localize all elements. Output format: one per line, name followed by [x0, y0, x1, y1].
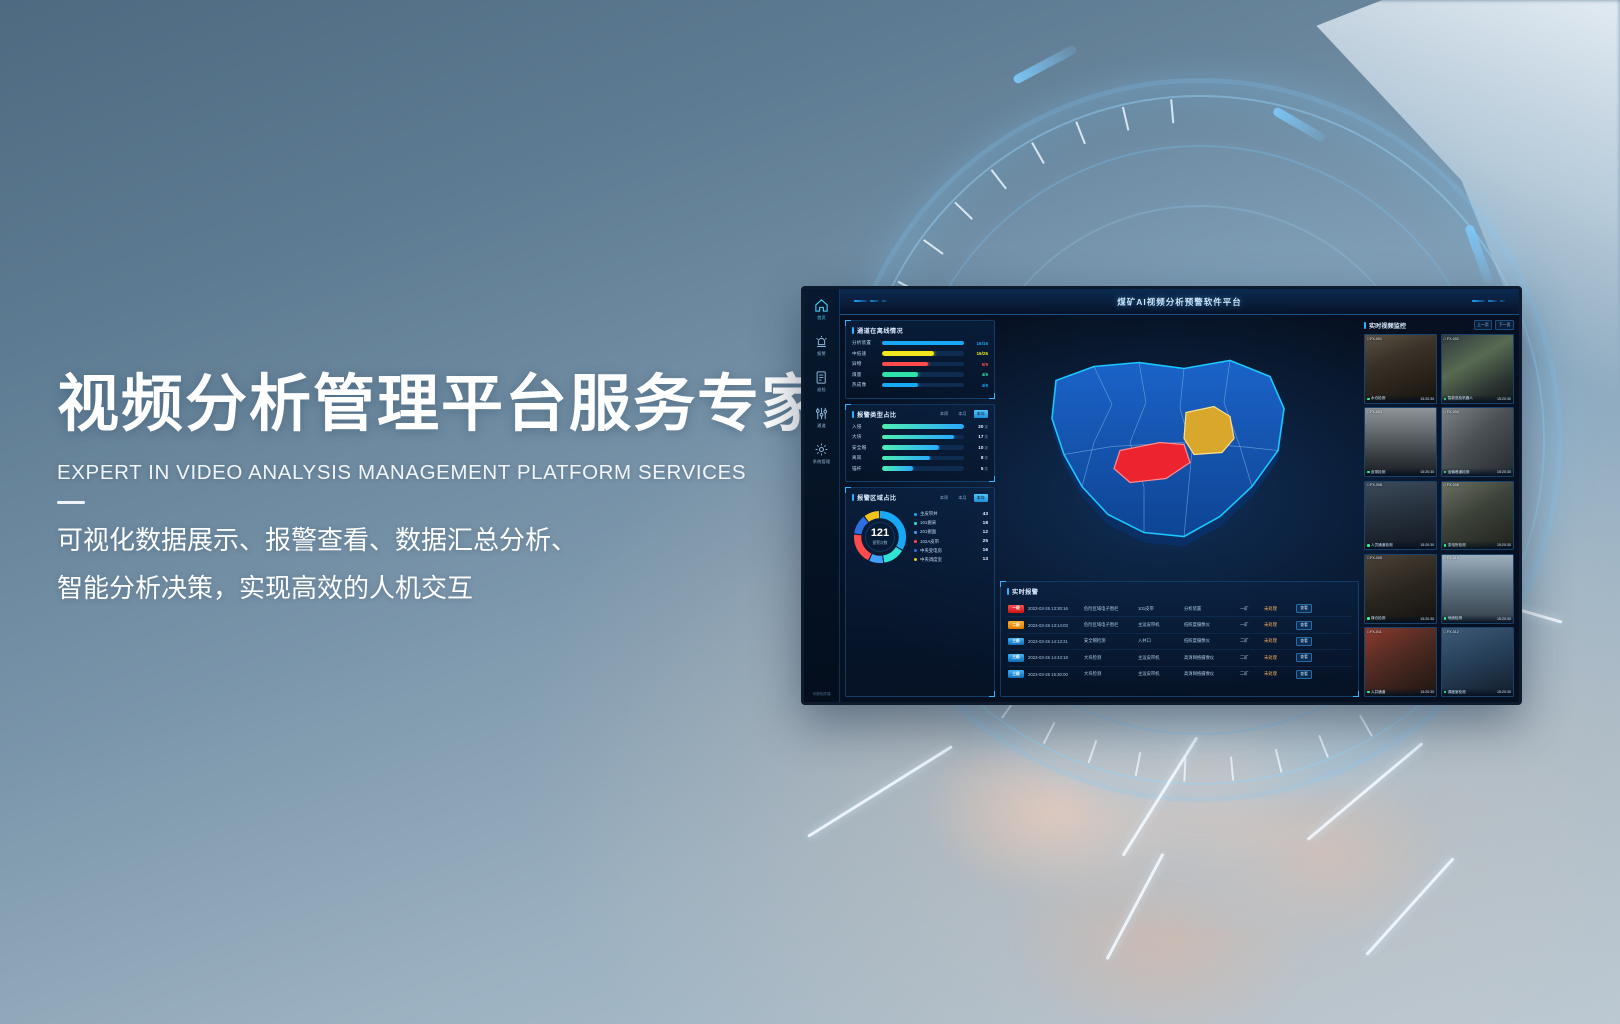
view-button[interactable]: 查看 [1296, 653, 1312, 662]
alarm-rows: 一级2023-03-26 13:30:16危险区域电子围栏101皮带分析装置一矿… [1007, 601, 1352, 682]
alarm-mine: 一矿 [1240, 606, 1260, 612]
legend-color-dot [914, 540, 917, 543]
donut-chart: 121 报警次数 [852, 509, 908, 565]
video-tile[interactable]: □ FX-006人员通道检测15:20:30 [1364, 481, 1437, 551]
video-caption: 入井通道15:20:30 [1365, 688, 1436, 696]
alarm-type-panel: 报警类型占比 本周本月本年 入侵20次大块17次安全帽10次离岗8次锚杆5次 [845, 404, 995, 483]
dash-segment [1012, 44, 1078, 85]
sidebar-item-inspection[interactable]: 巡检 [804, 370, 839, 393]
inspection-icon [814, 370, 829, 385]
channel-row: 中低速16/25 [852, 351, 988, 357]
legend-color-dot [914, 558, 917, 561]
video-name: 变电所检测 [1448, 543, 1466, 548]
map-highlight-gold [1184, 407, 1234, 455]
alarm-status: 未处理 [1264, 606, 1290, 612]
progress-track [882, 445, 964, 449]
video-channel-id: □ FX-001 [1367, 337, 1382, 341]
video-panel-header: 实时视频监控 上一页 下一页 [1364, 320, 1514, 330]
panel-title: 实时视频监控 [1364, 321, 1406, 330]
dashboard-body: 通道在离线情况 分析装置16/16中低速16/25异物5/9煤量4/9热成像4/… [840, 315, 1519, 702]
table-row[interactable]: 三级2023-03-26 14:43:18大块检测主运皮带机高清网络摄像仪二矿未… [1007, 650, 1352, 666]
legend-value: 13 [983, 557, 988, 562]
progress-fill [882, 435, 954, 439]
home-icon [814, 298, 829, 313]
alarm-type-row: 安全帽10次 [852, 445, 988, 451]
legend-color-dot [914, 549, 917, 552]
dashboard-screen: 首页 报警 巡检 通道 系统管理 可视化终端 煤矿AI视频分析预警软件平台 [804, 289, 1519, 702]
video-tile[interactable]: □ FX-009煤仓检测15:20:30 [1364, 554, 1437, 624]
alarm-type-value: 8次 [968, 455, 988, 461]
alarm-type-row: 离岗8次 [852, 455, 988, 461]
ring-tick [1230, 756, 1234, 780]
channel-value: 4/9 [968, 383, 988, 388]
video-tile[interactable]: □ FX-011入井通道15:20:30 [1364, 627, 1437, 697]
alarm-mine: 二矿 [1240, 655, 1260, 661]
online-indicator-icon [1444, 398, 1447, 401]
video-channel-id: □ FX-012 [1444, 630, 1459, 634]
alarm-time: 2023-03-26 15:30:00 [1028, 672, 1080, 677]
channel-row: 异物5/9 [852, 361, 988, 367]
prev-page-button[interactable]: 上一页 [1474, 320, 1493, 330]
alarm-type-row: 入侵20次 [852, 424, 988, 430]
channel-name: 热成像 [852, 382, 878, 388]
light-streak [1307, 742, 1424, 841]
ring-tick [1135, 752, 1142, 776]
alarm-mine: 一矿 [1240, 622, 1260, 628]
legend-value: 16 [983, 548, 988, 553]
progress-fill [882, 351, 934, 355]
ring-tick [954, 202, 973, 220]
light-streak [1122, 736, 1199, 856]
light-streak [1365, 857, 1454, 956]
ring-tick [1275, 749, 1283, 773]
online-indicator-icon [1367, 398, 1370, 401]
video-pager[interactable]: 上一页 下一页 [1474, 320, 1514, 330]
channel-value: 16/16 [968, 341, 988, 346]
video-name: 水仓检测 [1371, 396, 1385, 401]
channel-value: 4/9 [968, 372, 988, 377]
progress-track [882, 466, 964, 470]
sidebar-item-label: 报警 [817, 351, 826, 357]
dashboard-header: 煤矿AI视频分析预警软件平台 [840, 289, 1519, 315]
channel-value: 16/25 [968, 351, 988, 356]
period-tab-本年[interactable]: 本年 [974, 410, 988, 418]
map-svg [1030, 341, 1330, 556]
online-indicator-icon [1367, 544, 1370, 547]
alarm-location: 主运皮带机 [1138, 622, 1180, 628]
center-column: 实时报警 一级2023-03-26 13:30:16危险区域电子围栏101皮带分… [1000, 320, 1359, 697]
video-tile[interactable]: □ FX-004运输巷道检测15:20:30 [1441, 407, 1514, 477]
channel-name: 中低速 [852, 351, 878, 357]
video-time: 15:20:30 [1497, 617, 1511, 621]
legend-label: 主皮带井 [920, 511, 980, 517]
alarm-status: 未处理 [1264, 622, 1290, 628]
video-feed-image [1365, 408, 1436, 476]
sidebar-footer-label: 可视化终端 [804, 692, 839, 697]
legend-value: 25 [983, 539, 988, 544]
video-caption: 地面检测15:20:30 [1442, 615, 1513, 623]
legend-color-dot [914, 513, 917, 516]
alarm-type-value: 10次 [968, 445, 988, 451]
panel-header: 报警区域占比 本周本月本年 [852, 493, 988, 502]
ring-tick [1183, 758, 1186, 782]
header-deco-left [854, 300, 887, 302]
alarm-device: 低照度摄像仪 [1184, 638, 1236, 644]
alarm-type: 安全帽检测 [1084, 638, 1134, 644]
sidebar-item-label: 巡检 [817, 387, 826, 393]
legend-value: 12 [983, 530, 988, 535]
video-time: 15:20:30 [1497, 470, 1511, 474]
page-title: 视频分析管理平台服务专家 [57, 372, 837, 439]
video-time: 15:20:30 [1420, 690, 1434, 694]
video-time: 15:20:30 [1420, 470, 1434, 474]
online-indicator-icon [1444, 617, 1447, 620]
alarm-device: 高清网络摄像仪 [1184, 655, 1236, 661]
alarm-type-value: 20次 [968, 424, 988, 430]
video-time: 15:20:30 [1497, 397, 1511, 401]
video-name: 调度室检测 [1448, 690, 1466, 695]
alarm-time: 2023-03-26 14:13:21 [1028, 639, 1080, 644]
donut-legend: 主皮带井43101掘采18201掘面12102A皮带25中央变电房16中央调度室… [914, 511, 988, 563]
video-channel-id: □ FX-006 [1367, 483, 1382, 487]
video-feed-image [1365, 482, 1436, 550]
video-time: 15:20:30 [1420, 617, 1434, 621]
video-feed-image [1442, 482, 1513, 550]
table-row[interactable]: 二级2023-03-26 13:14:03危险区域电子围栏主运皮带机低照度摄像仪… [1007, 617, 1352, 633]
view-button-cell[interactable]: 查看 [1294, 604, 1314, 613]
alarm-area-panel: 报警区域占比 本周本月本年 121 报警次数 主皮带井43101掘采18201掘… [845, 487, 995, 697]
ring-tick [1122, 107, 1129, 131]
header-deco-right [1472, 300, 1505, 302]
legend-item: 102A皮带25 [914, 539, 988, 545]
video-name: 入井通道 [1371, 690, 1385, 695]
hero-description-line2: 智能分析决策，实现高效的人机交互 [57, 564, 837, 612]
alarm-type: 危险区域电子围栏 [1084, 606, 1134, 612]
alarm-location: 主运皮带机 [1138, 655, 1180, 661]
progress-fill [882, 424, 964, 428]
dash-segment [1272, 106, 1327, 143]
video-grid: □ FX-001水仓检测15:20:30□ FX-002智能巡检机器人15:20… [1364, 334, 1514, 697]
alarm-type: 危险区域电子围栏 [1084, 622, 1134, 628]
video-channel-id: □ FX-004 [1444, 410, 1459, 414]
table-row[interactable]: 三级2023-03-26 15:30:00大块检测主运皮带机高清网络摄像仪二矿未… [1007, 667, 1352, 682]
alarm-icon [814, 334, 829, 349]
alarm-location: 主运皮带机 [1138, 671, 1180, 677]
panel-title: 通道在离线情况 [852, 326, 903, 335]
video-tile[interactable]: □ FX-002智能巡检机器人15:20:30 [1441, 334, 1514, 404]
donut-total: 121 [871, 528, 889, 539]
video-caption: 煤仓检测15:20:30 [1365, 615, 1436, 623]
alarm-type: 大块检测 [1084, 655, 1134, 661]
video-tile[interactable]: □ FX-010地面检测15:20:30 [1441, 554, 1514, 624]
video-tile[interactable]: □ FX-003皮带检测15:20:30 [1364, 407, 1437, 477]
channel-name: 煤量 [852, 372, 878, 378]
period-tab-本月[interactable]: 本月 [955, 494, 969, 502]
progress-fill [882, 362, 928, 366]
view-button[interactable]: 查看 [1296, 637, 1312, 646]
video-time: 15:20:30 [1497, 690, 1511, 694]
progress-track [882, 456, 964, 460]
video-name: 地面检测 [1448, 616, 1462, 621]
sidebar-item-alarm[interactable]: 报警 [804, 334, 839, 357]
alarm-type-row: 大块17次 [852, 434, 988, 440]
right-column: 实时视频监控 上一页 下一页 □ FX-001水仓检测15:20:30□ FX-… [1364, 320, 1514, 697]
alarm-time: 2023-03-26 13:14:03 [1028, 623, 1080, 628]
alarm-type: 大块检测 [1084, 671, 1134, 677]
video-feed-image [1442, 628, 1513, 696]
video-channel-id: □ FX-011 [1367, 630, 1382, 634]
panel-title: 报警类型占比 [852, 410, 897, 419]
video-channel-id: □ FX-010 [1444, 556, 1459, 560]
sidebar-item-channel[interactable]: 通道 [804, 406, 839, 429]
channel-row: 煤量4/9 [852, 372, 988, 378]
legend-value: 43 [983, 512, 988, 517]
video-status: 地面检测 [1444, 616, 1462, 621]
dash-segment [1464, 224, 1494, 285]
video-time: 15:20:30 [1420, 397, 1434, 401]
progress-fill [882, 383, 918, 387]
alarm-type-row: 锚杆5次 [852, 466, 988, 472]
progress-fill [882, 341, 964, 345]
video-name: 智能巡检机器人 [1448, 396, 1473, 401]
video-status: 运输巷道检测 [1444, 470, 1470, 475]
region-map[interactable] [1000, 320, 1359, 576]
hero-description-line1: 可视化数据展示、报警查看、数据汇总分析、 [57, 516, 837, 564]
period-tabs[interactable]: 本周本月本年 [937, 494, 988, 502]
video-name: 运输巷道检测 [1448, 470, 1470, 475]
gear-icon [814, 442, 829, 457]
ring-tick [991, 169, 1007, 189]
video-feed-image [1365, 628, 1436, 696]
channel-status-panel: 通道在离线情况 分析装置16/16中低速16/25异物5/9煤量4/9热成像4/… [845, 320, 995, 399]
alarm-type-rows: 入侵20次大块17次安全帽10次离岗8次锚杆5次 [852, 424, 988, 472]
progress-fill [882, 456, 930, 460]
view-button[interactable]: 查看 [1296, 670, 1312, 679]
video-caption: 皮带检测15:20:30 [1365, 468, 1436, 476]
alarm-time: 2023-03-26 13:30:16 [1028, 606, 1080, 611]
alarm-status: 未处理 [1264, 655, 1290, 661]
alarm-type-value: 17次 [968, 434, 988, 440]
table-row[interactable]: 一级2023-03-26 13:30:16危险区域电子围栏101皮带分析装置一矿… [1007, 601, 1352, 617]
progress-fill [882, 466, 913, 470]
ring-tick [1318, 735, 1329, 758]
period-tab-本月[interactable]: 本月 [955, 410, 969, 418]
channel-row: 分析装置16/16 [852, 340, 988, 346]
progress-track [882, 362, 964, 366]
online-indicator-icon [1444, 471, 1447, 474]
dashboard-monitor: 首页 报警 巡检 通道 系统管理 可视化终端 煤矿AI视频分析预警软件平台 [801, 286, 1522, 705]
panel-title: 实时报警 [1007, 587, 1038, 596]
online-indicator-icon [1367, 691, 1370, 694]
video-caption: 运输巷道检测15:20:30 [1442, 468, 1513, 476]
panel-header: 实时报警 [1007, 587, 1352, 596]
video-channel-id: □ FX-008 [1444, 483, 1459, 487]
period-tab-本年[interactable]: 本年 [974, 494, 988, 502]
alarm-time: 2023-03-26 14:43:18 [1028, 655, 1080, 660]
channel-name: 异物 [852, 361, 878, 367]
title-accent-bar [1364, 322, 1366, 329]
video-tile[interactable]: □ FX-001水仓检测15:20:30 [1364, 334, 1437, 404]
view-button[interactable]: 查看 [1296, 621, 1312, 630]
alarm-location: 101皮带 [1138, 606, 1180, 612]
alarm-mine: 二矿 [1240, 671, 1260, 677]
alarm-type-name: 安全帽 [852, 445, 878, 451]
alarm-location: 入井口 [1138, 638, 1180, 644]
legend-item: 201掘面12 [914, 529, 988, 535]
legend-item: 中央变电房16 [914, 548, 988, 554]
sidebar-item-home[interactable]: 首页 [804, 298, 839, 321]
light-streak [807, 745, 953, 838]
video-status: 入井通道 [1367, 690, 1385, 695]
hero-copy: 视频分析管理平台服务专家 EXPERT IN VIDEO ANALYSIS MA… [57, 372, 837, 612]
video-status: 变电所检测 [1444, 543, 1466, 548]
alarm-device: 分析装置 [1184, 606, 1236, 612]
view-button-cell[interactable]: 查看 [1294, 670, 1314, 679]
progress-track [882, 435, 964, 439]
next-page-button[interactable]: 下一页 [1495, 320, 1514, 330]
alarm-type-name: 入侵 [852, 424, 878, 430]
video-caption: 智能巡检机器人15:20:30 [1442, 395, 1513, 403]
ring-tick [1088, 740, 1098, 763]
light-streak [1106, 853, 1165, 960]
channel-value: 5/9 [968, 362, 988, 367]
ring-tick [1170, 99, 1174, 123]
progress-track [882, 372, 964, 376]
legend-value: 18 [983, 521, 988, 526]
video-tile[interactable]: □ FX-008变电所检测15:20:30 [1441, 481, 1514, 551]
video-caption: 人员通道检测15:20:30 [1365, 541, 1436, 549]
video-panel-title: 实时视频监控 [1369, 321, 1406, 330]
sidebar-item-label: 首页 [817, 315, 826, 321]
channel-row: 热成像4/9 [852, 382, 988, 388]
video-name: 煤仓检测 [1371, 616, 1385, 621]
status-badge: 三级 [1008, 670, 1024, 678]
channel-name: 分析装置 [852, 340, 878, 346]
hero-divider [57, 501, 85, 504]
view-button[interactable]: 查看 [1296, 604, 1312, 613]
dashboard-title: 煤矿AI视频分析预警软件平台 [1117, 296, 1242, 308]
period-tabs[interactable]: 本周本月本年 [937, 410, 988, 418]
video-channel-id: □ FX-002 [1444, 337, 1459, 341]
video-caption: 调度室检测15:20:30 [1442, 688, 1513, 696]
online-indicator-icon [1367, 617, 1370, 620]
status-badge: 三级 [1008, 654, 1024, 662]
legend-item: 主皮带井43 [914, 511, 988, 517]
alarm-type-name: 离岗 [852, 455, 878, 461]
period-tab-本周[interactable]: 本周 [937, 494, 951, 502]
status-badge: 三级 [1008, 638, 1024, 646]
left-column: 通道在离线情况 分析装置16/16中低速16/25异物5/9煤量4/9热成像4/… [845, 320, 995, 697]
alarm-type-value: 5次 [968, 466, 988, 472]
view-button-cell[interactable]: 查看 [1294, 637, 1314, 646]
video-time: 15:20:30 [1497, 543, 1511, 547]
legend-label: 101掘采 [920, 520, 980, 526]
video-caption: 水仓检测15:20:30 [1365, 395, 1436, 403]
sidebar-nav: 首页 报警 巡检 通道 系统管理 可视化终端 [804, 289, 840, 702]
legend-item: 101掘采18 [914, 520, 988, 526]
donut-center: 121 报警次数 [865, 522, 895, 552]
progress-track [882, 383, 964, 387]
sidebar-item-system[interactable]: 系统管理 [804, 442, 839, 465]
alarm-device: 高清网络摄像仪 [1184, 671, 1236, 677]
legend-label: 中央调度室 [920, 557, 980, 563]
online-indicator-icon [1444, 544, 1447, 547]
table-row[interactable]: 三级2023-03-26 14:13:21安全帽检测入井口低照度摄像仪二矿未处理… [1007, 634, 1352, 650]
sidebar-item-label: 系统管理 [813, 459, 831, 465]
hero-subtitle: EXPERT IN VIDEO ANALYSIS MANAGEMENT PLAT… [57, 461, 837, 485]
ring-tick [1031, 142, 1045, 164]
period-tab-本周[interactable]: 本周 [937, 410, 951, 418]
status-badge: 二级 [1008, 621, 1024, 629]
alarm-type-name: 大块 [852, 434, 878, 440]
progress-track [882, 351, 964, 355]
online-indicator-icon [1367, 471, 1370, 474]
video-status: 水仓检测 [1367, 396, 1385, 401]
view-button-cell[interactable]: 查看 [1294, 621, 1314, 630]
channel-rows: 分析装置16/16中低速16/25异物5/9煤量4/9热成像4/9 [852, 340, 988, 388]
video-tile[interactable]: □ FX-012调度室检测15:20:30 [1441, 627, 1514, 697]
ring-tick [1075, 121, 1086, 144]
video-feed-image [1442, 335, 1513, 403]
video-status: 调度室检测 [1444, 690, 1466, 695]
view-button-cell[interactable]: 查看 [1294, 653, 1314, 662]
legend-color-dot [914, 531, 917, 534]
video-time: 15:20:30 [1420, 543, 1434, 547]
video-status: 皮带检测 [1367, 470, 1385, 475]
video-status: 智能巡检机器人 [1444, 396, 1473, 401]
ring-tick [1359, 715, 1373, 737]
donut-total-label: 报警次数 [872, 541, 887, 546]
video-feed-image [1442, 408, 1513, 476]
alarm-type-name: 锚杆 [852, 466, 878, 472]
video-name: 人员通道检测 [1371, 543, 1393, 548]
video-channel-id: □ FX-009 [1367, 556, 1382, 560]
ring-tick [923, 239, 944, 255]
alarm-status: 未处理 [1264, 638, 1290, 644]
panel-header: 通道在离线情况 [852, 326, 988, 335]
video-status: 人员通道检测 [1367, 543, 1393, 548]
sidebar-item-label: 通道 [817, 423, 826, 429]
legend-label: 201掘面 [920, 529, 980, 535]
legend-label: 中央变电房 [920, 548, 980, 554]
online-indicator-icon [1444, 691, 1447, 694]
video-status: 煤仓检测 [1367, 616, 1385, 621]
alarm-device: 低照度摄像仪 [1184, 622, 1236, 628]
video-feed-image [1365, 335, 1436, 403]
realtime-alarm-panel: 实时报警 一级2023-03-26 13:30:16危险区域电子围栏101皮带分… [1000, 581, 1359, 697]
legend-item: 中央调度室13 [914, 557, 988, 563]
video-caption: 变电所检测15:20:30 [1442, 541, 1513, 549]
video-feed-image [1365, 555, 1436, 623]
video-name: 皮带检测 [1371, 470, 1385, 475]
channel-icon [814, 406, 829, 421]
progress-track [882, 424, 964, 428]
alarm-mine: 二矿 [1240, 638, 1260, 644]
video-feed-image [1442, 555, 1513, 623]
progress-track [882, 341, 964, 345]
legend-label: 102A皮带 [920, 539, 980, 545]
video-channel-id: □ FX-003 [1367, 410, 1382, 414]
progress-fill [882, 445, 939, 449]
progress-fill [882, 372, 918, 376]
status-badge: 一级 [1008, 605, 1024, 613]
hand-blur [880, 690, 1440, 1020]
panel-title: 报警区域占比 [852, 493, 897, 502]
donut-chart-wrap: 121 报警次数 主皮带井43101掘采18201掘面12102A皮带25中央变… [852, 507, 988, 565]
ring-tick [1043, 722, 1056, 744]
legend-color-dot [914, 522, 917, 525]
panel-header: 报警类型占比 本周本月本年 [852, 410, 988, 419]
